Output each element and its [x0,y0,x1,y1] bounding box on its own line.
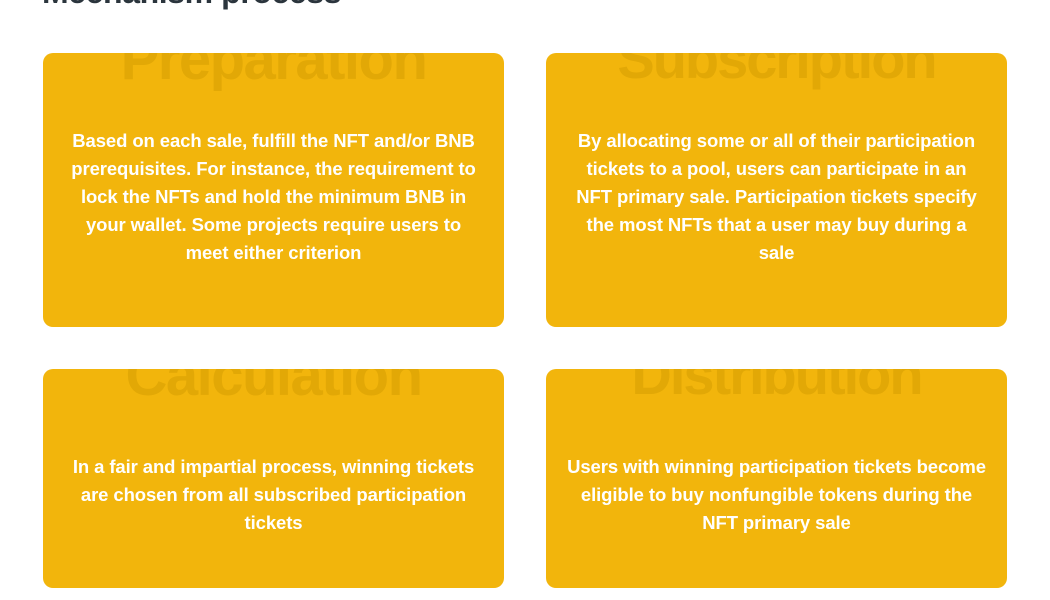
process-card-heading-watermark: Calculation [43,369,504,405]
process-card-body: By allocating some or all of their parti… [567,127,987,268]
process-card-calculation[interactable]: Calculation In a fair and impartial proc… [43,369,504,588]
mechanism-process-slide: Mechanism process Preparation Based on e… [0,0,1050,600]
process-card-preparation[interactable]: Preparation Based on each sale, fulfill … [43,53,504,327]
process-card-heading-watermark: Preparation [43,53,504,89]
process-card-body: In a fair and impartial process, winning… [64,453,484,537]
process-card-subscription[interactable]: Subscription By allocating some or all o… [546,53,1007,327]
process-card-body: Based on each sale, fulfill the NFT and/… [64,127,484,268]
process-card-distribution[interactable]: Distribution Users with winning particip… [546,369,1007,588]
page-title: Mechanism process [42,0,341,12]
process-card-body: Users with winning participation tickets… [567,453,987,537]
process-card-grid: Preparation Based on each sale, fulfill … [43,53,1007,588]
process-card-heading-watermark: Distribution [546,369,1007,403]
process-card-heading-watermark: Subscription [546,53,1007,87]
